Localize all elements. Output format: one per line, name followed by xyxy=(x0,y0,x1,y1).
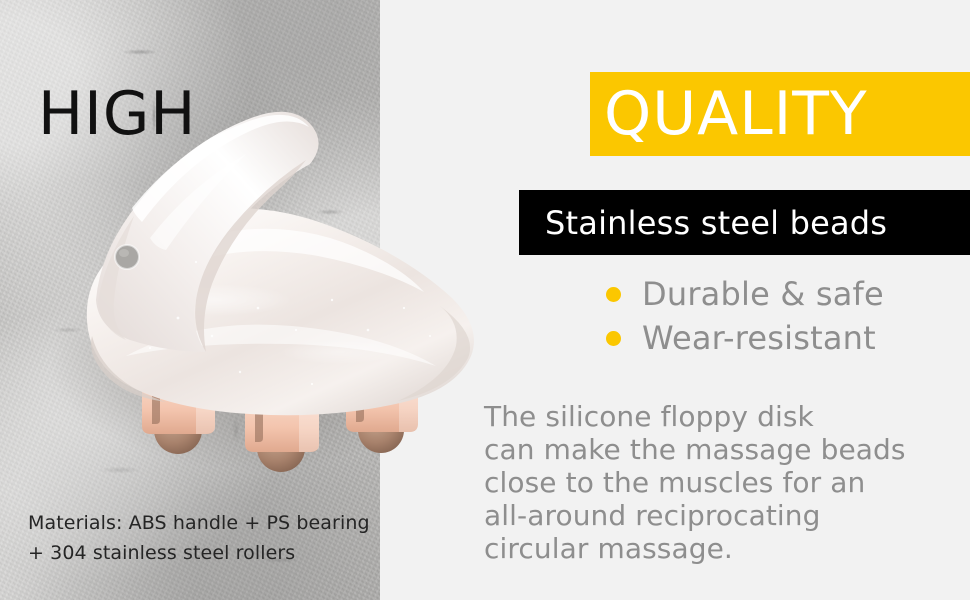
subtitle-banner: Stainless steel beads xyxy=(519,190,970,255)
headline-highlight-word: QUALITY xyxy=(590,84,868,144)
materials-caption-line-1: Materials: ABS handle + PS bearing xyxy=(28,512,370,534)
materials-caption-line-2: + 304 stainless steel rollers xyxy=(28,542,295,564)
feature-bullet-item-2: Wear-resistant xyxy=(606,316,884,360)
feature-bullet-label-1: Durable & safe xyxy=(642,278,884,310)
feature-bullet-list: Durable & safe Wear-resistant xyxy=(606,272,884,360)
feature-bullet-label-2: Wear-resistant xyxy=(642,322,876,354)
description-paragraph: The silicone floppy disk can make the ma… xyxy=(484,400,954,565)
description-line-1: The silicone floppy disk xyxy=(484,400,954,433)
headline-highlight-block: QUALITY xyxy=(590,72,970,156)
feature-bullet-item-1: Durable & safe xyxy=(606,272,884,316)
description-line-2: can make the massage beads xyxy=(484,433,954,466)
headline-plain-word: HIGH xyxy=(38,84,212,144)
headline: HIGH xyxy=(38,72,212,156)
product-feature-poster: Materials: ABS handle + PS bearing + 304… xyxy=(0,0,970,600)
description-line-3: close to the muscles for an xyxy=(484,466,954,499)
bullet-dot-icon xyxy=(606,331,621,346)
materials-caption: Materials: ABS handle + PS bearing + 304… xyxy=(28,508,378,568)
description-line-4: all-around reciprocating xyxy=(484,499,954,532)
subtitle-banner-label: Stainless steel beads xyxy=(519,204,887,242)
description-line-5: circular massage. xyxy=(484,532,954,565)
bullet-dot-icon xyxy=(606,287,621,302)
